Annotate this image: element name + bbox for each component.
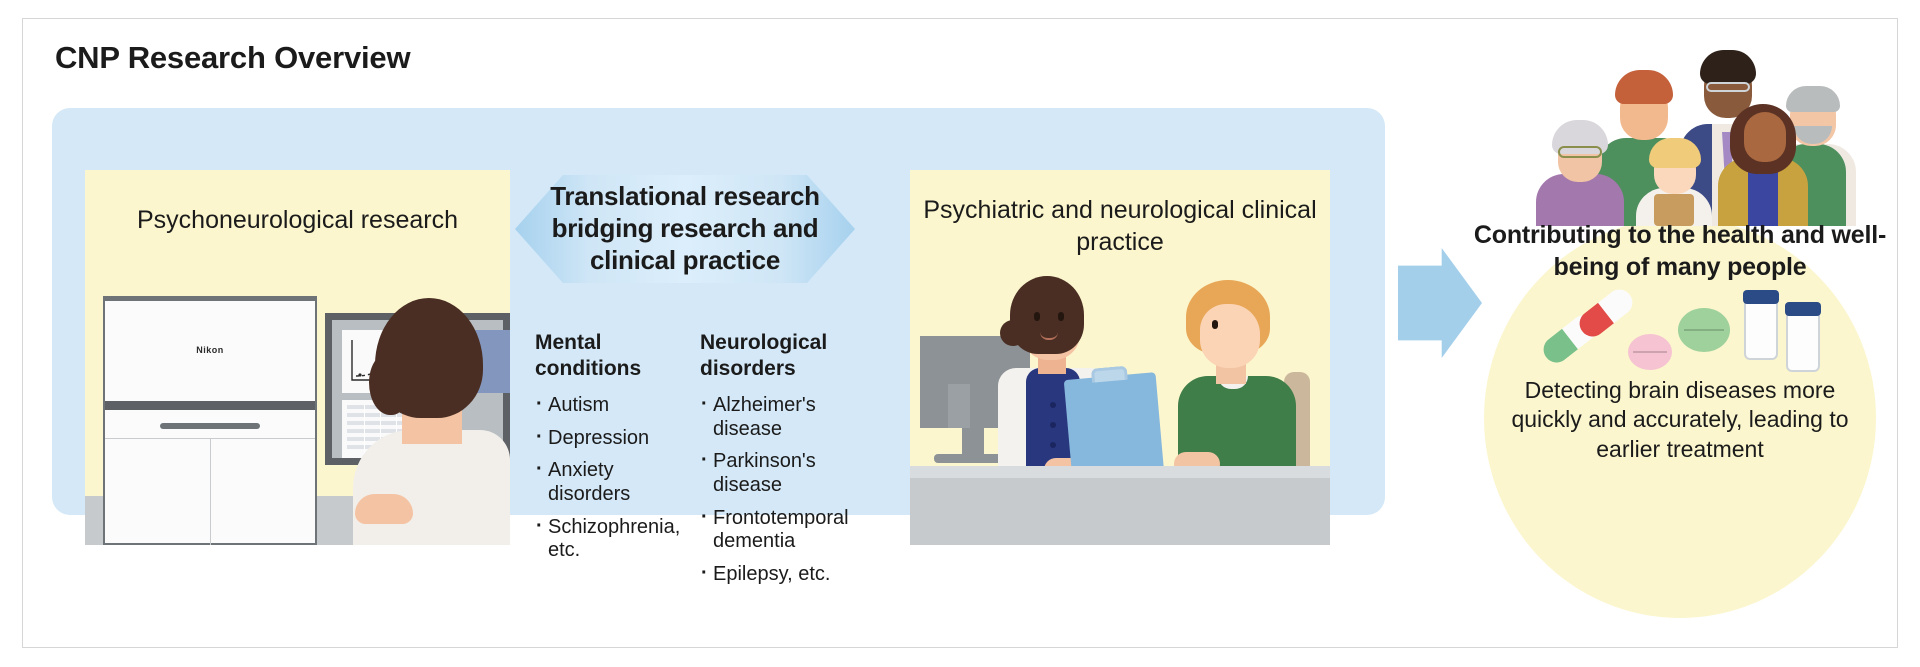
clipboard-clip — [1091, 366, 1128, 383]
tablet-green — [1678, 308, 1730, 352]
list-item: Schizophrenia, etc. — [535, 516, 695, 563]
researcher-lab-coat — [353, 430, 510, 545]
doctor-hair — [1010, 276, 1084, 354]
person-child — [1636, 136, 1712, 226]
vial-cap-left — [1743, 290, 1779, 304]
mental-heading-line1: Mental — [535, 331, 602, 354]
list-item: Autism — [535, 394, 695, 418]
neuro-heading-line1: Neurological — [700, 331, 827, 354]
lab-illustration: Nikon — [85, 278, 510, 545]
arrow-label-line3: clinical practice — [590, 245, 780, 275]
patient-figure — [1172, 280, 1322, 480]
neurological-disorders-heading: Neurological disorders — [700, 330, 880, 381]
list-item: Frontotemporal dementia — [700, 507, 880, 554]
mental-conditions-list: Autism Depression Anxiety disorders Schi… — [535, 394, 695, 563]
mental-conditions-heading: Mental conditions — [535, 330, 695, 381]
page-title: CNP Research Overview — [55, 40, 410, 76]
clinic-illustration — [910, 258, 1330, 545]
lab-instrument: Nikon — [103, 296, 317, 545]
medication-illustration — [1520, 298, 1850, 378]
mental-conditions-column: Mental conditions Autism Depression Anxi… — [535, 330, 695, 572]
clinic-desk — [910, 466, 1330, 545]
clinical-practice-card: Psychiatric and neurological clinical pr… — [910, 170, 1330, 545]
vial-right — [1786, 310, 1820, 372]
patient-face — [1200, 304, 1260, 368]
arrow-label-line2: bridging research and — [552, 213, 819, 243]
list-item: Epilepsy, etc. — [700, 563, 880, 587]
researcher-figure — [347, 278, 510, 545]
list-item: Alzheimer's disease — [700, 394, 880, 441]
instrument-doors — [105, 438, 315, 545]
clinical-card-title: Psychiatric and neurological clinical pr… — [910, 194, 1330, 258]
person-woman-mustard — [1718, 100, 1808, 226]
outcome-headline: Contributing to the health and well-bein… — [1470, 220, 1890, 283]
psychoneurological-research-card: Psychoneurological research Nikon — [85, 170, 510, 545]
vial-cap-right — [1785, 302, 1821, 316]
tablet-pink — [1628, 334, 1672, 370]
instrument-brand-label: Nikon — [105, 345, 315, 355]
translational-arrow-label: Translational research bridging research… — [515, 175, 855, 283]
translational-arrow: Translational research bridging research… — [515, 175, 855, 283]
doctor-eye-left — [1034, 312, 1040, 321]
clinic-monitor-inner — [948, 384, 970, 428]
outcome-subtext: Detecting brain diseases more quickly an… — [1500, 376, 1860, 464]
list-item: Parkinson's disease — [700, 450, 880, 497]
research-card-title: Psychoneurological research — [85, 204, 510, 236]
neurological-disorders-column: Neurological disorders Alzheimer's disea… — [700, 330, 880, 595]
clinic-desk-surface — [910, 466, 1330, 478]
researcher-hair-lock — [369, 353, 409, 415]
list-item: Depression — [535, 427, 695, 451]
researcher-hand — [355, 494, 413, 524]
infographic-page: CNP Research Overview Psychoneurological… — [0, 0, 1920, 667]
mental-heading-line2: conditions — [535, 357, 641, 380]
doctor-eye-right — [1058, 312, 1064, 321]
outcome-section: Contributing to the health and well-bein… — [1470, 28, 1890, 608]
instrument-handle — [160, 423, 260, 429]
neuro-heading-line2: disorders — [700, 357, 796, 380]
neurological-disorders-list: Alzheimer's disease Parkinson's disease … — [700, 394, 880, 586]
people-group-illustration — [1480, 28, 1880, 226]
list-item: Anxiety disorders — [535, 459, 695, 506]
vial-left — [1744, 298, 1778, 360]
instrument-divider — [105, 401, 315, 410]
patient-eye — [1212, 320, 1218, 329]
arrow-label-line1: Translational research — [550, 181, 819, 211]
clinic-monitor-stand — [962, 428, 984, 456]
person-elderly-woman — [1536, 120, 1624, 226]
